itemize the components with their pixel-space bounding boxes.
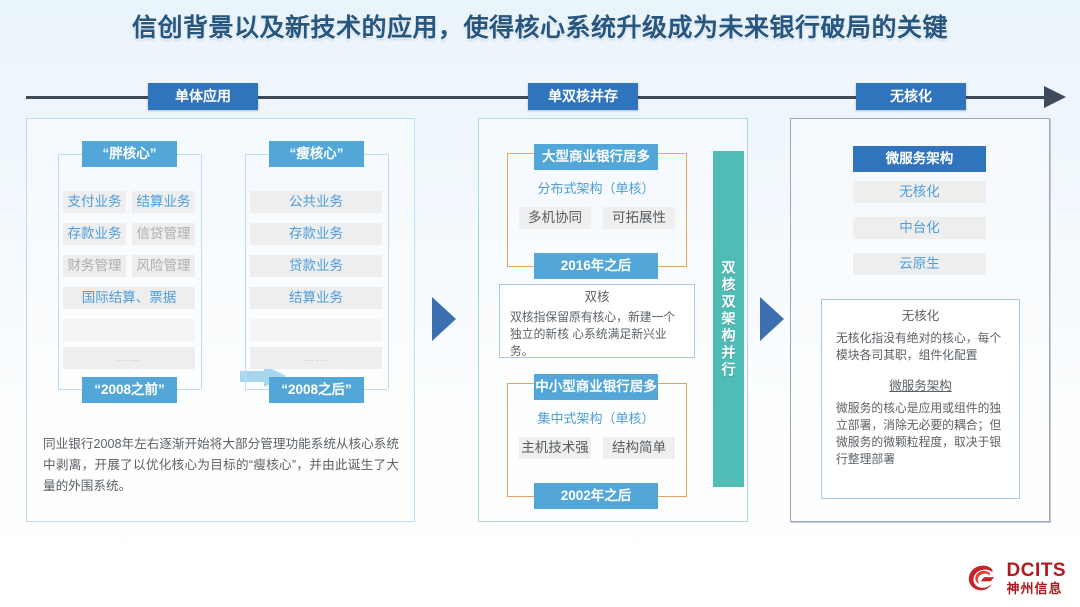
small-bank-header: 中小型商业银行居多 bbox=[534, 374, 658, 400]
timeline: 单体应用 单双核并存 无核化 bbox=[26, 83, 1066, 111]
small-bank-footer: 2002年之后 bbox=[534, 483, 658, 509]
microservice-header: 微服务架构 bbox=[853, 146, 986, 172]
brand-logo: DCITS 神州信息 bbox=[967, 561, 1067, 595]
large-bank-subtitle: 分布式架构（单核） bbox=[507, 180, 685, 197]
dual-core-vertical-band-label: 双核双架构并行 bbox=[719, 260, 739, 379]
thin-core-item: 存款业务 bbox=[250, 223, 382, 245]
panel-coreless: 微服务架构 无核化 中台化 云原生 无核化 无核化指没有绝对的核心，每个模块各司… bbox=[790, 118, 1050, 522]
chevron-right-icon-2 bbox=[760, 297, 784, 341]
timeline-stage-3[interactable]: 无核化 bbox=[856, 83, 966, 110]
fat-core-item: 支付业务 bbox=[63, 191, 126, 213]
fat-core-footer: “2008之前” bbox=[82, 377, 177, 403]
chevron-right-icon-1 bbox=[432, 297, 456, 341]
fat-core-item-empty bbox=[63, 319, 195, 341]
thin-core-header: “瘦核心” bbox=[269, 141, 364, 167]
thin-core-footer: “2008之后” bbox=[269, 377, 364, 403]
dcits-swirl-icon bbox=[967, 562, 1001, 594]
fat-core-item: 结算业务 bbox=[132, 191, 195, 213]
panel-monolithic: “胖核心” 支付业务 结算业务 存款业务 信贷管理 财务管理 风险管理 国际结算… bbox=[26, 118, 415, 522]
logo-en: DCITS bbox=[1007, 561, 1067, 580]
logo-cn: 神州信息 bbox=[1007, 582, 1067, 595]
fat-core-item: 财务管理 bbox=[63, 255, 126, 277]
fat-core-item: 国际结算、票据 bbox=[63, 287, 195, 309]
dual-core-note-title: 双核 bbox=[500, 289, 694, 306]
large-bank-header: 大型商业银行居多 bbox=[534, 144, 658, 170]
coreless-item: 云原生 bbox=[853, 253, 986, 275]
thin-core-item-empty bbox=[250, 319, 382, 341]
page-title: 信创背景以及新技术的应用，使得核心系统升级成为未来银行破局的关键 bbox=[0, 8, 1080, 44]
small-bank-subtitle: 集中式架构（单核） bbox=[507, 410, 685, 427]
coreless-item: 无核化 bbox=[853, 181, 986, 203]
timeline-stage-1[interactable]: 单体应用 bbox=[148, 83, 258, 110]
dual-core-note-body: 双核指保留原有核心，新建一个独立的新核 心系统满足新兴业务。 bbox=[510, 309, 686, 360]
timeline-arrow-icon bbox=[1044, 86, 1066, 108]
fat-core-item: 风险管理 bbox=[132, 255, 195, 277]
timeline-stage-2[interactable]: 单双核并存 bbox=[528, 83, 638, 110]
fat-core-item: 存款业务 bbox=[63, 223, 126, 245]
coreless-note-title-1: 无核化 bbox=[822, 308, 1019, 325]
large-bank-footer: 2016年之后 bbox=[534, 253, 658, 279]
coreless-note-body-1: 无核化指没有绝对的核心，每个模块各司其职，组件化配置 bbox=[836, 330, 1008, 364]
dual-core-note-card: 双核 双核指保留原有核心，新建一个独立的新核 心系统满足新兴业务。 bbox=[499, 284, 695, 358]
panel-dual-core: 大型商业银行居多 分布式架构（单核） 多机协同 可拓展性 2016年之后 双核 … bbox=[478, 118, 748, 522]
coreless-note-card: 无核化 无核化指没有绝对的核心，每个模块各司其职，组件化配置 微服务架构 微服务… bbox=[821, 299, 1020, 499]
dual-core-vertical-band: 双核双架构并行 bbox=[713, 151, 744, 487]
thin-core-item: …… bbox=[250, 347, 382, 369]
thin-core-item: 公共业务 bbox=[250, 191, 382, 213]
slide-root: 信创背景以及新技术的应用，使得核心系统升级成为未来银行破局的关键 单体应用 单双… bbox=[0, 0, 1080, 607]
thin-core-item: 结算业务 bbox=[250, 287, 382, 309]
fat-core-item: …… bbox=[63, 347, 195, 369]
fat-core-item: 信贷管理 bbox=[132, 223, 195, 245]
coreless-item: 中台化 bbox=[853, 217, 986, 239]
small-bank-tag: 结构简单 bbox=[603, 437, 675, 459]
coreless-note-title-2: 微服务架构 bbox=[822, 378, 1019, 395]
panel1-paragraph: 同业银行2008年左右逐渐开始将大部分管理功能系统从核心系统中剥离，开展了以优化… bbox=[43, 434, 399, 497]
thin-core-item: 贷款业务 bbox=[250, 255, 382, 277]
fat-core-header: “胖核心” bbox=[82, 141, 177, 167]
large-bank-tag: 可拓展性 bbox=[603, 207, 675, 229]
large-bank-tag: 多机协同 bbox=[519, 207, 591, 229]
small-bank-tag: 主机技术强 bbox=[519, 437, 591, 459]
coreless-note-body-2: 微服务的核心是应用或组件的独立部署，消除无必要的耦合；但微服务的微颗粒程度，取决… bbox=[836, 400, 1008, 468]
